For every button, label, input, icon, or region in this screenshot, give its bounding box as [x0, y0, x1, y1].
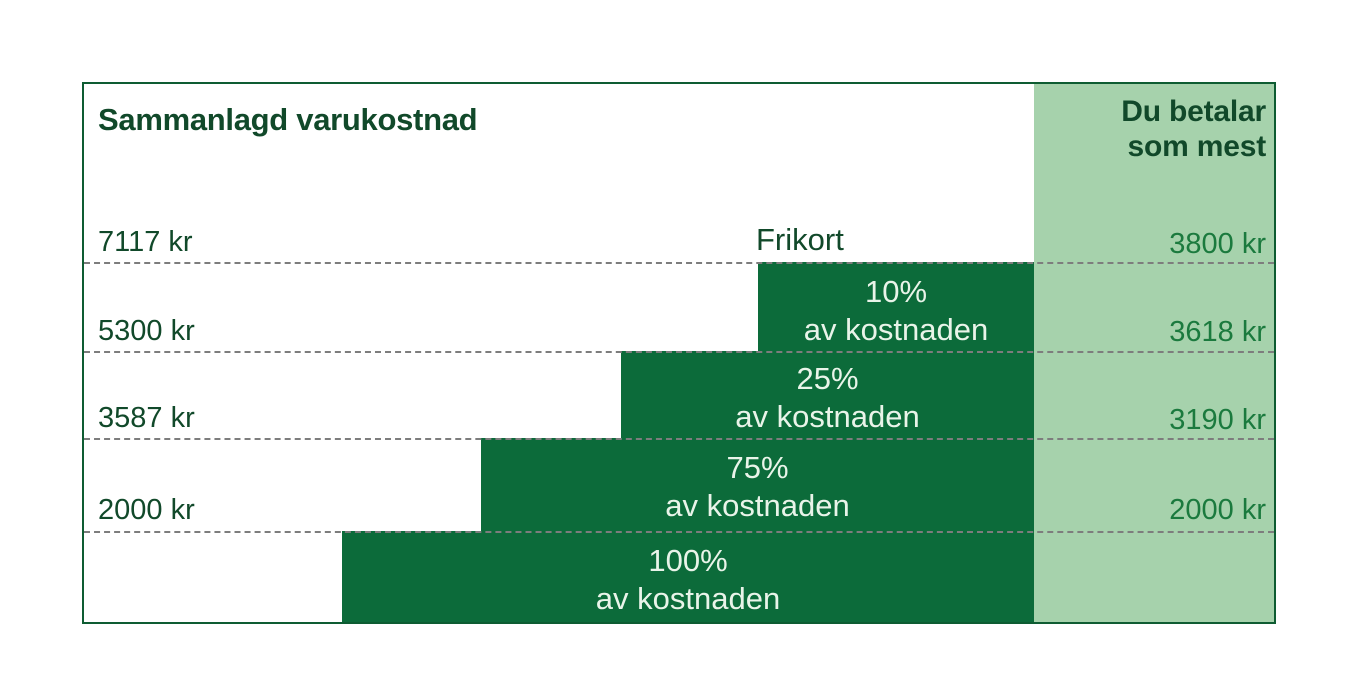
payment-value-3618: 3618 kr — [1169, 318, 1266, 347]
payment-value-3800: 3800 kr — [1169, 230, 1266, 259]
step-bar-100-percent: 100% — [342, 545, 1034, 576]
cost-threshold-5300: 5300 kr — [98, 317, 195, 346]
gridline-5300 — [84, 351, 1274, 353]
payment-column-header: Du betalar som mest — [1121, 94, 1266, 165]
cost-threshold-2000: 2000 kr — [98, 496, 195, 525]
frikort-label: Frikort — [756, 224, 844, 255]
step-bar-25: 25% av kostnaden — [621, 351, 1034, 438]
cost-threshold-3587: 3587 kr — [98, 404, 195, 433]
stepped-cost-chart: Sammanlagd varukostnad Du betalar som me… — [82, 82, 1276, 624]
gridline-3587 — [84, 438, 1274, 440]
step-bar-75-sublabel: av kostnaden — [481, 490, 1034, 521]
step-bar-75-percent: 75% — [481, 452, 1034, 483]
payment-value-2000: 2000 kr — [1169, 496, 1266, 525]
step-bar-10-percent: 10% — [758, 276, 1034, 307]
step-bar-10-sublabel: av kostnaden — [758, 314, 1034, 345]
step-bar-25-percent: 25% — [621, 363, 1034, 394]
step-bar-75: 75% av kostnaden — [481, 438, 1034, 531]
payment-column-header-line1: Du betalar — [1121, 94, 1266, 129]
gridline-2000 — [84, 531, 1274, 533]
gridline-7117 — [84, 262, 1274, 264]
step-bar-25-sublabel: av kostnaden — [621, 401, 1034, 432]
cost-threshold-7117: 7117 kr — [98, 228, 193, 257]
payment-column-header-line2: som mest — [1121, 129, 1266, 164]
payment-column-panel: Du betalar som mest 3800 kr 3618 kr 3190… — [1034, 84, 1274, 622]
step-bar-100-sublabel: av kostnaden — [342, 583, 1034, 614]
payment-value-3190: 3190 kr — [1169, 406, 1266, 435]
step-bar-100: 100% av kostnaden — [342, 531, 1034, 622]
step-bar-10: 10% av kostnaden — [758, 262, 1034, 351]
page-title: Sammanlagd varukostnad — [98, 102, 477, 138]
